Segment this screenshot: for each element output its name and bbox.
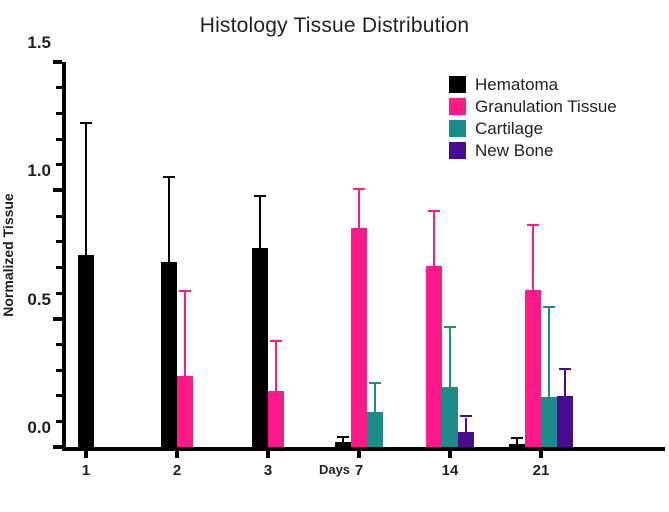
y-tick-label: 1.5 — [27, 33, 51, 53]
error-bar-cap — [270, 340, 282, 342]
bar — [509, 444, 525, 447]
legend-item: New Bone — [449, 139, 617, 161]
y-tick-major — [53, 60, 62, 64]
bar — [351, 228, 367, 447]
error-bar-cap — [444, 326, 456, 328]
y-tick-minor — [56, 369, 62, 372]
legend: HematomaGranulation TissueCartilageNew B… — [449, 73, 617, 161]
y-tick-label: 0.5 — [27, 290, 51, 310]
x-tick — [84, 447, 88, 458]
bar — [335, 442, 351, 447]
y-tick-minor — [56, 86, 62, 89]
bar — [78, 255, 94, 448]
y-tick-minor — [56, 215, 62, 218]
legend-item: Hematoma — [449, 73, 617, 95]
y-tick-minor — [56, 343, 62, 346]
error-bar-cap — [80, 122, 92, 124]
error-bar — [168, 178, 170, 263]
bar — [268, 391, 284, 447]
error-bar-cap — [163, 176, 175, 178]
bar — [458, 432, 474, 447]
error-bar — [184, 292, 186, 377]
legend-label: Hematoma — [475, 76, 558, 93]
error-bar-cap — [369, 382, 381, 384]
y-tick-minor — [56, 266, 62, 269]
legend-label: Granulation Tissue — [475, 98, 617, 115]
legend-swatch-icon — [449, 76, 466, 93]
legend-swatch-icon — [449, 98, 466, 115]
error-bar-cap — [337, 436, 349, 438]
y-axis-title: Normalized Tissue — [0, 193, 16, 316]
y-tick-major — [53, 445, 62, 449]
histology-chart: Histology Tissue Distribution 0.00.51.01… — [0, 0, 669, 512]
x-tick — [357, 447, 361, 458]
bar — [557, 396, 573, 447]
error-bar — [532, 226, 534, 290]
error-bar — [259, 197, 261, 248]
x-tick — [175, 447, 179, 458]
error-bar — [548, 308, 550, 397]
error-bar-cap — [511, 437, 523, 439]
error-bar — [85, 124, 87, 255]
error-bar — [433, 212, 435, 266]
error-bar-cap — [527, 224, 539, 226]
legend-item: Cartilage — [449, 117, 617, 139]
error-bar — [358, 190, 360, 227]
error-bar-cap — [460, 415, 472, 417]
y-tick-minor — [56, 240, 62, 243]
legend-swatch-icon — [449, 120, 466, 137]
x-axis-line — [62, 447, 665, 451]
error-bar-cap — [179, 290, 191, 292]
x-tick — [448, 447, 452, 458]
error-bar-cap — [428, 210, 440, 212]
y-tick-minor — [56, 394, 62, 397]
y-tick-minor — [56, 292, 62, 295]
error-bar — [275, 342, 277, 391]
y-tick-minor — [56, 112, 62, 115]
y-tick-major — [53, 188, 62, 192]
y-tick-label: 0.0 — [27, 418, 51, 438]
bar — [161, 262, 177, 447]
bar — [177, 376, 193, 447]
error-bar-cap — [543, 306, 555, 308]
error-bar — [564, 370, 566, 396]
error-bar — [342, 438, 344, 442]
chart-title: Histology Tissue Distribution — [0, 14, 669, 38]
error-bar-cap — [353, 188, 365, 190]
legend-label: Cartilage — [475, 120, 543, 137]
error-bar — [449, 328, 451, 387]
bar — [426, 266, 442, 447]
legend-item: Granulation Tissue — [449, 95, 617, 117]
error-bar — [374, 384, 376, 412]
y-tick-label: 1.0 — [27, 161, 51, 181]
bar — [541, 397, 557, 447]
error-bar-cap — [254, 195, 266, 197]
error-bar-cap — [559, 368, 571, 370]
x-tick — [266, 447, 270, 458]
legend-label: New Bone — [475, 142, 553, 159]
y-tick-minor — [56, 163, 62, 166]
bar — [367, 412, 383, 447]
bar — [252, 248, 268, 447]
y-tick-minor — [56, 138, 62, 141]
legend-swatch-icon — [449, 142, 466, 159]
y-tick-major — [53, 317, 62, 321]
x-axis-title: Days — [0, 462, 669, 477]
error-bar — [516, 439, 518, 444]
bar — [525, 290, 541, 447]
error-bar — [465, 418, 467, 432]
x-tick — [539, 447, 543, 458]
y-tick-minor — [56, 420, 62, 423]
bar — [442, 387, 458, 447]
y-axis-line — [62, 62, 66, 448]
